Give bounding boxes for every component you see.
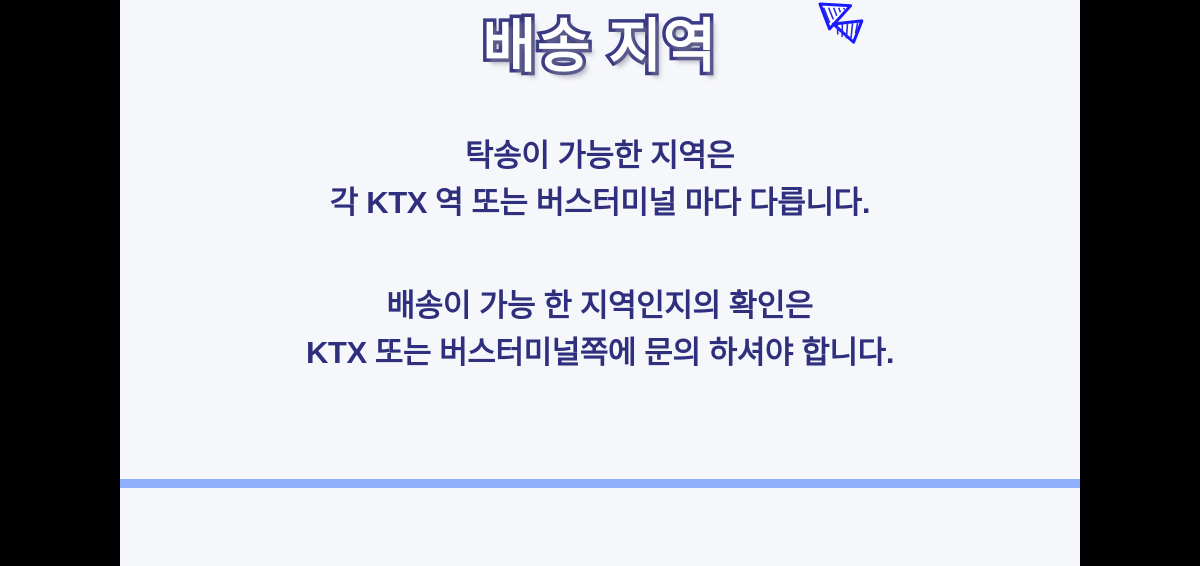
title-wrap: 배송 지역: [120, 18, 1080, 76]
notice-line-3: 배송이 가능 한 지역인지의 확인은: [120, 282, 1080, 329]
section-divider: [120, 479, 1080, 488]
title-block: 배송 지역: [120, 18, 1080, 108]
screenshot-stage: 배송 지역: [0, 0, 1200, 566]
notice-line-2: 각 KTX 역 또는 버스터미널 마다 다릅니다.: [120, 179, 1080, 226]
paragraph-gap: [120, 226, 1080, 282]
content-panel: 배송 지역: [120, 0, 1080, 566]
notice-line-1: 탁송이 가능한 지역은: [120, 132, 1080, 179]
page-title: 배송 지역: [483, 18, 718, 76]
footer-space: [120, 488, 1080, 566]
body-copy: 탁송이 가능한 지역은 각 KTX 역 또는 버스터미널 마다 다릅니다. 배송…: [120, 132, 1080, 376]
notice-line-4: KTX 또는 버스터미널쪽에 문의 하셔야 합니다.: [120, 329, 1080, 376]
